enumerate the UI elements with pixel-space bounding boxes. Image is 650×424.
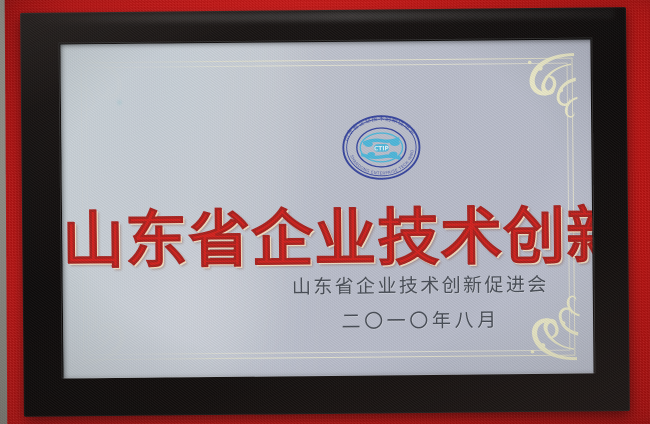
corner-ornament-bottom-left	[75, 292, 150, 367]
award-title: 山东省企业技术创新奖	[62, 205, 593, 272]
black-wood-frame: CTIP 山东省企业技术创新促进会 SHANDONG ENTERPRISE TE…	[20, 7, 630, 417]
svg-text:CTIP: CTIP	[374, 146, 390, 152]
organization-seal-icon: CTIP 山东省企业技术创新促进会 SHANDONG ENTERPRISE TE…	[329, 103, 434, 192]
signature-block: 山东省企业技术创新促进会 二〇一〇年八月	[292, 273, 549, 334]
plaque-blemish-speck	[117, 100, 122, 105]
plaque-corner-tint	[60, 39, 231, 184]
award-plaque-face: CTIP 山东省企业技术创新促进会 SHANDONG ENTERPRISE TE…	[60, 39, 593, 378]
corner-ornament-top-right	[504, 52, 579, 127]
photo-scene: CTIP 山东省企业技术创新促进会 SHANDONG ENTERPRISE TE…	[0, 0, 650, 424]
issuing-organization: 山东省企业技术创新促进会	[292, 273, 549, 301]
issue-date: 二〇一〇年八月	[292, 305, 549, 334]
